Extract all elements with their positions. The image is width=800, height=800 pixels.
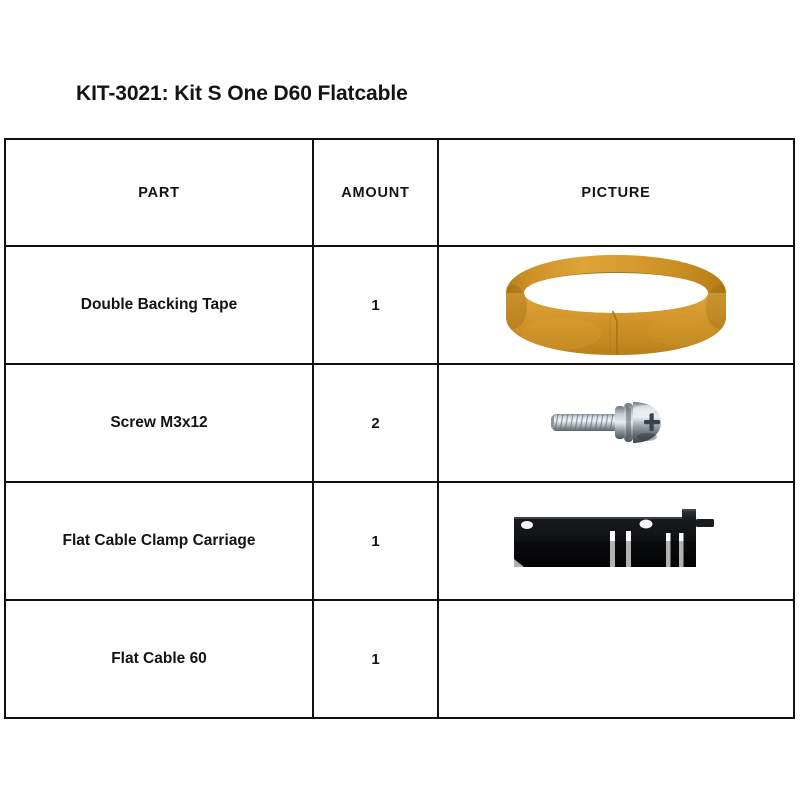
picture-cell: [438, 482, 794, 600]
part-name-cell: Double Backing Tape: [5, 246, 313, 364]
picture-wrapper: [439, 247, 793, 363]
picture-cell: [438, 246, 794, 364]
column-header-amount: AMOUNT: [313, 139, 438, 246]
picture-cell: [438, 364, 794, 482]
carriage-mount-hole-left: [521, 521, 533, 529]
carriage-shoulder-highlight: [682, 509, 696, 511]
kit-parts-table: PART AMOUNT PICTURE Double Backing Tape …: [4, 138, 795, 719]
carriage-left-chamfer: [514, 511, 526, 517]
picture-wrapper: [439, 483, 793, 599]
screw-m3x12-photo: [551, 389, 681, 457]
page-root: KIT-3021: Kit S One D60 Flatcable PART A…: [0, 0, 800, 800]
screw-washer-shadow: [626, 405, 631, 440]
carriage-top-highlight: [514, 517, 682, 519]
table-header-row: PART AMOUNT PICTURE: [5, 139, 794, 246]
amount-cell: 1: [313, 600, 438, 718]
flat-cable-clamp-carriage-photo: [500, 501, 732, 581]
table-row: Flat Cable Clamp Carriage 1: [5, 482, 794, 600]
picture-wrapper: [439, 365, 793, 481]
picture-cell-empty: [438, 600, 794, 718]
table-row: Screw M3x12 2: [5, 364, 794, 482]
amount-cell: 1: [313, 246, 438, 364]
page-title: KIT-3021: Kit S One D60 Flatcable: [76, 82, 408, 106]
tape-hole: [524, 273, 708, 313]
carriage-mount-hole-right: [640, 520, 653, 529]
table-body: Double Backing Tape 1: [5, 246, 794, 718]
screw-head-lowlight: [637, 433, 657, 441]
double-backing-tape-ring-photo: [501, 252, 731, 358]
screw-tip: [551, 414, 554, 431]
amount-cell: 1: [313, 482, 438, 600]
part-name-cell: Screw M3x12: [5, 364, 313, 482]
screw-washer-flat: [615, 406, 625, 439]
carriage-right-tab: [696, 519, 714, 527]
part-name-cell: Flat Cable 60: [5, 600, 313, 718]
screw-head-highlight: [633, 405, 655, 415]
table-row: Flat Cable 60 1: [5, 600, 794, 718]
column-header-part: PART: [5, 139, 313, 246]
table-header: PART AMOUNT PICTURE: [5, 139, 794, 246]
table-row: Double Backing Tape 1: [5, 246, 794, 364]
column-header-picture: PICTURE: [438, 139, 794, 246]
amount-cell: 2: [313, 364, 438, 482]
part-name-cell: Flat Cable Clamp Carriage: [5, 482, 313, 600]
carriage-lower-shade: [514, 541, 696, 567]
